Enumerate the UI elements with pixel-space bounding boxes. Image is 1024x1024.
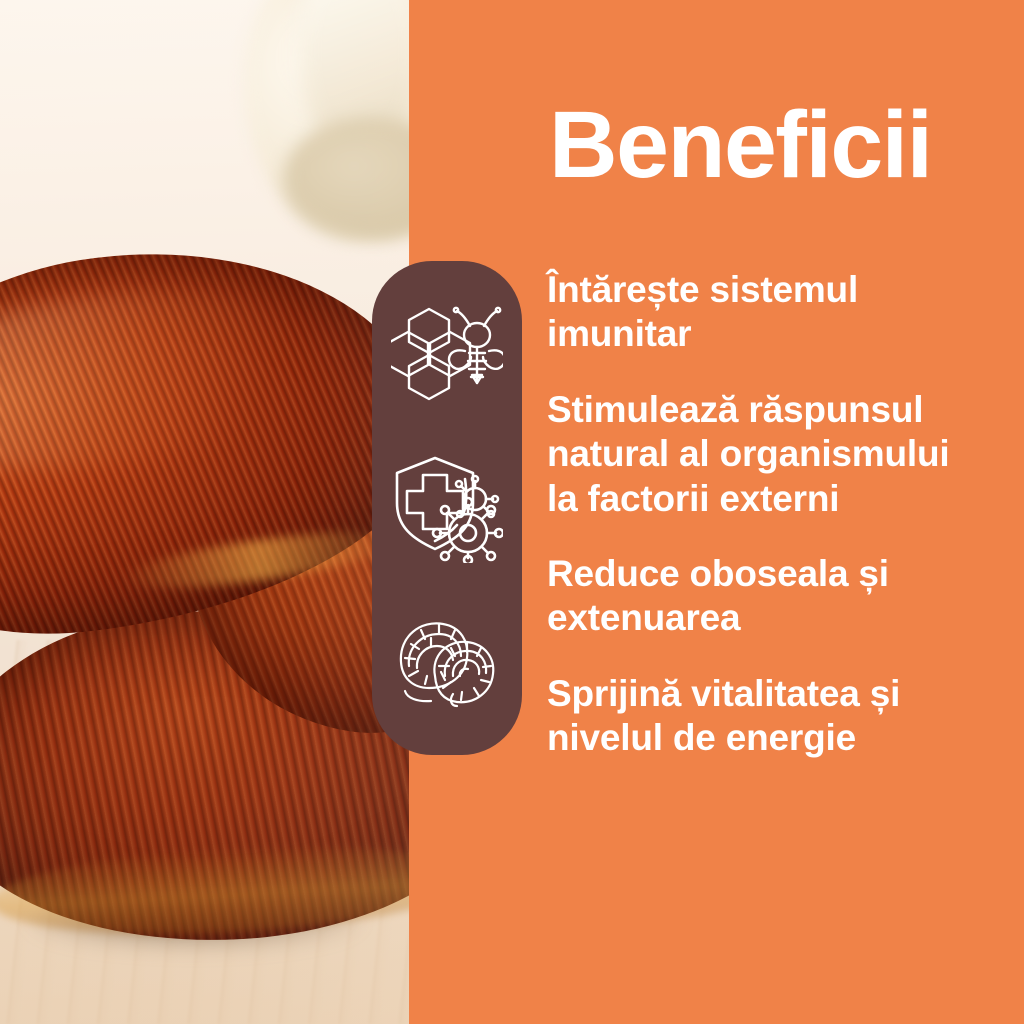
reishi-mushroom-icon <box>388 602 506 720</box>
shield-virus-icon <box>388 449 506 567</box>
honeycomb-bee-icon <box>388 296 506 414</box>
list-item: Sprijină vitalitatea și nivelul de energ… <box>547 672 967 761</box>
icon-card <box>372 261 522 755</box>
product-photo <box>0 0 409 1024</box>
list-item: Întărește sistemul imunitar <box>547 268 967 357</box>
page-title: Beneficii <box>549 98 931 193</box>
list-item: Stimulează răspunsul natural al organism… <box>547 388 967 521</box>
benefits-list: Întărește sistemul imunitar Stimulează r… <box>547 268 967 761</box>
photo-vignette <box>0 0 409 1024</box>
poster-canvas: Beneficii Întărește sistemul imunitar St… <box>0 0 1024 1024</box>
list-item: Reduce oboseala și extenuarea <box>547 552 967 641</box>
